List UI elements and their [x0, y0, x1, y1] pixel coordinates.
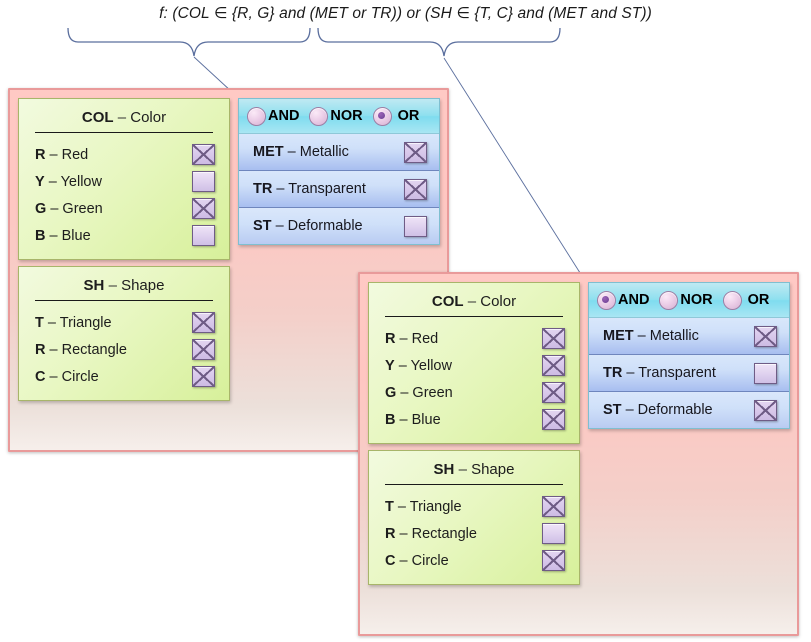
value-code: T: [385, 499, 394, 515]
value-label: Y – Yellow: [35, 174, 192, 190]
value-code: R: [385, 526, 395, 542]
radio-selected-icon[interactable]: [597, 291, 616, 310]
attribute-panel-title: COL – Color: [369, 283, 579, 316]
value-name: Blue: [62, 228, 91, 244]
value-name: Yellow: [411, 358, 452, 374]
checkbox-checked-icon[interactable]: [542, 355, 565, 376]
value-row[interactable]: B – Blue: [19, 222, 229, 249]
property-name: Transparent: [288, 181, 366, 197]
attribute-title: Shape: [121, 277, 164, 294]
radio-option-and[interactable]: AND: [597, 291, 649, 310]
value-name: Triangle: [410, 499, 462, 515]
dash: –: [400, 331, 408, 347]
value-row[interactable]: R – Red: [369, 325, 579, 352]
dash: –: [399, 358, 407, 374]
dash: –: [468, 293, 476, 310]
attribute-panel-title: SH – Shape: [19, 267, 229, 300]
checkbox-checked-icon[interactable]: [192, 144, 215, 165]
value-code: Y: [35, 174, 45, 190]
property-label: ST – Deformable: [603, 402, 754, 418]
checkbox-checked-icon[interactable]: [192, 366, 215, 387]
property-row[interactable]: ST – Deformable: [589, 392, 789, 428]
radio-option-or[interactable]: OR: [373, 107, 420, 126]
attribute-code: SH: [434, 461, 455, 478]
dash: –: [626, 365, 634, 381]
operator-panel[interactable]: AND NOR OR MET – Metallic TR – Tran: [238, 98, 440, 245]
attribute-code: COL: [82, 109, 114, 126]
value-row[interactable]: B – Blue: [369, 406, 579, 433]
property-name: Metallic: [650, 328, 699, 344]
attribute-panel-sh[interactable]: SH – Shape T – Triangle R –: [18, 266, 230, 401]
property-code: TR: [603, 365, 622, 381]
value-label: Y – Yellow: [385, 358, 542, 374]
operator-panel[interactable]: AND NOR OR MET – Metallic TR – Tran: [588, 282, 790, 429]
value-code: T: [35, 315, 44, 331]
value-label: T – Triangle: [35, 315, 192, 331]
dash: –: [109, 277, 117, 294]
value-label: T – Triangle: [385, 499, 542, 515]
value-label: R – Red: [35, 147, 192, 163]
value-row[interactable]: R – Red: [19, 141, 229, 168]
radio-option-nor[interactable]: NOR: [659, 291, 712, 310]
operator-selector[interactable]: AND NOR OR: [239, 99, 439, 134]
title-divider: [35, 132, 213, 133]
property-code: TR: [253, 181, 272, 197]
property-code: ST: [603, 402, 622, 418]
radio-label: AND: [618, 292, 649, 308]
dash: –: [276, 181, 284, 197]
operator-selector[interactable]: AND NOR OR: [589, 283, 789, 318]
value-row[interactable]: C – Circle: [19, 363, 229, 390]
checkbox-checked-icon[interactable]: [542, 328, 565, 349]
attribute-panel-title: SH – Shape: [369, 451, 579, 484]
property-row[interactable]: ST – Deformable: [239, 208, 439, 244]
checkbox-checked-icon[interactable]: [542, 409, 565, 430]
value-code: B: [385, 412, 395, 428]
dash: –: [118, 109, 126, 126]
title-divider: [35, 300, 213, 301]
value-row[interactable]: G – Green: [369, 379, 579, 406]
value-name: Yellow: [61, 174, 102, 190]
value-label: R – Red: [385, 331, 542, 347]
value-row[interactable]: R – Rectangle: [369, 520, 579, 547]
value-label: B – Blue: [385, 412, 542, 428]
checkbox-unchecked-icon[interactable]: [192, 171, 215, 192]
property-label: MET – Metallic: [253, 144, 404, 160]
value-row[interactable]: R – Rectangle: [19, 336, 229, 363]
value-code: C: [35, 369, 45, 385]
rule-card-right[interactable]: COL – Color R – Red Y –: [358, 272, 799, 636]
property-row[interactable]: TR – Transparent: [589, 355, 789, 392]
dash: –: [48, 315, 56, 331]
property-row[interactable]: TR – Transparent: [239, 171, 439, 208]
attribute-title: Shape: [471, 461, 514, 478]
checkbox-checked-icon[interactable]: [542, 496, 565, 517]
property-name: Deformable: [638, 402, 713, 418]
dash: –: [626, 402, 634, 418]
radio-label: NOR: [330, 108, 362, 124]
value-name: Green: [412, 385, 452, 401]
logic-formula: f: (COL ∈ {R, G} and (MET or TR)) or (SH…: [0, 4, 811, 23]
radio-label: OR: [748, 292, 770, 308]
checkbox-unchecked-icon[interactable]: [542, 523, 565, 544]
radio-icon[interactable]: [247, 107, 266, 126]
radio-icon[interactable]: [659, 291, 678, 310]
value-label: R – Rectangle: [35, 342, 192, 358]
value-label: G – Green: [35, 201, 192, 217]
attribute-title: Color: [130, 109, 166, 126]
property-name: Deformable: [288, 218, 363, 234]
dash: –: [50, 228, 58, 244]
value-label: B – Blue: [35, 228, 192, 244]
dash: –: [50, 369, 58, 385]
value-label: G – Green: [385, 385, 542, 401]
attribute-panel-col[interactable]: COL – Color R – Red Y –: [368, 282, 580, 444]
value-label: C – Circle: [35, 369, 192, 385]
property-name: Transparent: [638, 365, 716, 381]
value-name: Red: [62, 147, 89, 163]
dash: –: [50, 342, 58, 358]
dash: –: [400, 412, 408, 428]
checkbox-checked-icon[interactable]: [542, 382, 565, 403]
radio-option-and[interactable]: AND: [247, 107, 299, 126]
dash: –: [276, 218, 284, 234]
radio-option-or[interactable]: OR: [723, 291, 770, 310]
checkbox-checked-icon[interactable]: [542, 550, 565, 571]
dash: –: [400, 385, 408, 401]
checkbox-checked-icon[interactable]: [192, 312, 215, 333]
attribute-code: COL: [432, 293, 464, 310]
dash: –: [459, 461, 467, 478]
checkbox-checked-icon[interactable]: [404, 179, 427, 200]
value-code: R: [385, 331, 395, 347]
dash: –: [400, 526, 408, 542]
value-row[interactable]: G – Green: [19, 195, 229, 222]
attribute-title: Color: [480, 293, 516, 310]
value-name: Red: [412, 331, 439, 347]
property-label: MET – Metallic: [603, 328, 754, 344]
dash: –: [400, 553, 408, 569]
checkbox-unchecked-icon[interactable]: [754, 363, 777, 384]
value-label: C – Circle: [385, 553, 542, 569]
checkbox-unchecked-icon[interactable]: [192, 225, 215, 246]
checkbox-checked-icon[interactable]: [192, 198, 215, 219]
radio-icon[interactable]: [723, 291, 742, 310]
property-row[interactable]: MET – Metallic: [239, 134, 439, 171]
dash: –: [50, 201, 58, 217]
value-row[interactable]: C – Circle: [369, 547, 579, 574]
radio-selected-icon[interactable]: [373, 107, 392, 126]
value-code: B: [35, 228, 45, 244]
radio-label: NOR: [680, 292, 712, 308]
value-row[interactable]: Y – Yellow: [19, 168, 229, 195]
value-name: Green: [62, 201, 102, 217]
radio-icon[interactable]: [309, 107, 328, 126]
radio-label: OR: [398, 108, 420, 124]
property-row[interactable]: MET – Metallic: [589, 318, 789, 355]
title-divider: [385, 316, 563, 317]
property-code: MET: [603, 328, 634, 344]
property-label: TR – Transparent: [603, 365, 754, 381]
checkbox-unchecked-icon[interactable]: [404, 216, 427, 237]
radio-option-nor[interactable]: NOR: [309, 107, 362, 126]
value-name: Circle: [62, 369, 99, 385]
attribute-panel-title: COL – Color: [19, 99, 229, 132]
checkbox-checked-icon[interactable]: [404, 142, 427, 163]
property-code: ST: [253, 218, 272, 234]
property-name: Metallic: [300, 144, 349, 160]
property-label: ST – Deformable: [253, 218, 404, 234]
value-label: R – Rectangle: [385, 526, 542, 542]
value-row[interactable]: T – Triangle: [369, 493, 579, 520]
property-code: MET: [253, 144, 284, 160]
attribute-panel-col[interactable]: COL – Color R – Red Y –: [18, 98, 230, 260]
value-code: Y: [385, 358, 395, 374]
value-name: Rectangle: [62, 342, 127, 358]
value-code: G: [385, 385, 396, 401]
value-row[interactable]: T – Triangle: [19, 309, 229, 336]
value-row[interactable]: Y – Yellow: [369, 352, 579, 379]
value-name: Circle: [412, 553, 449, 569]
checkbox-checked-icon[interactable]: [192, 339, 215, 360]
attribute-code: SH: [84, 277, 105, 294]
value-code: R: [35, 342, 45, 358]
value-code: C: [385, 553, 395, 569]
dash: –: [638, 328, 646, 344]
value-name: Rectangle: [412, 526, 477, 542]
checkbox-checked-icon[interactable]: [754, 400, 777, 421]
value-name: Triangle: [60, 315, 112, 331]
value-code: R: [35, 147, 45, 163]
dash: –: [288, 144, 296, 160]
attribute-panel-sh[interactable]: SH – Shape T – Triangle R –: [368, 450, 580, 585]
dash: –: [49, 174, 57, 190]
value-code: G: [35, 201, 46, 217]
dash: –: [50, 147, 58, 163]
dash: –: [398, 499, 406, 515]
radio-label: AND: [268, 108, 299, 124]
title-divider: [385, 484, 563, 485]
property-label: TR – Transparent: [253, 181, 404, 197]
checkbox-checked-icon[interactable]: [754, 326, 777, 347]
value-name: Blue: [412, 412, 441, 428]
